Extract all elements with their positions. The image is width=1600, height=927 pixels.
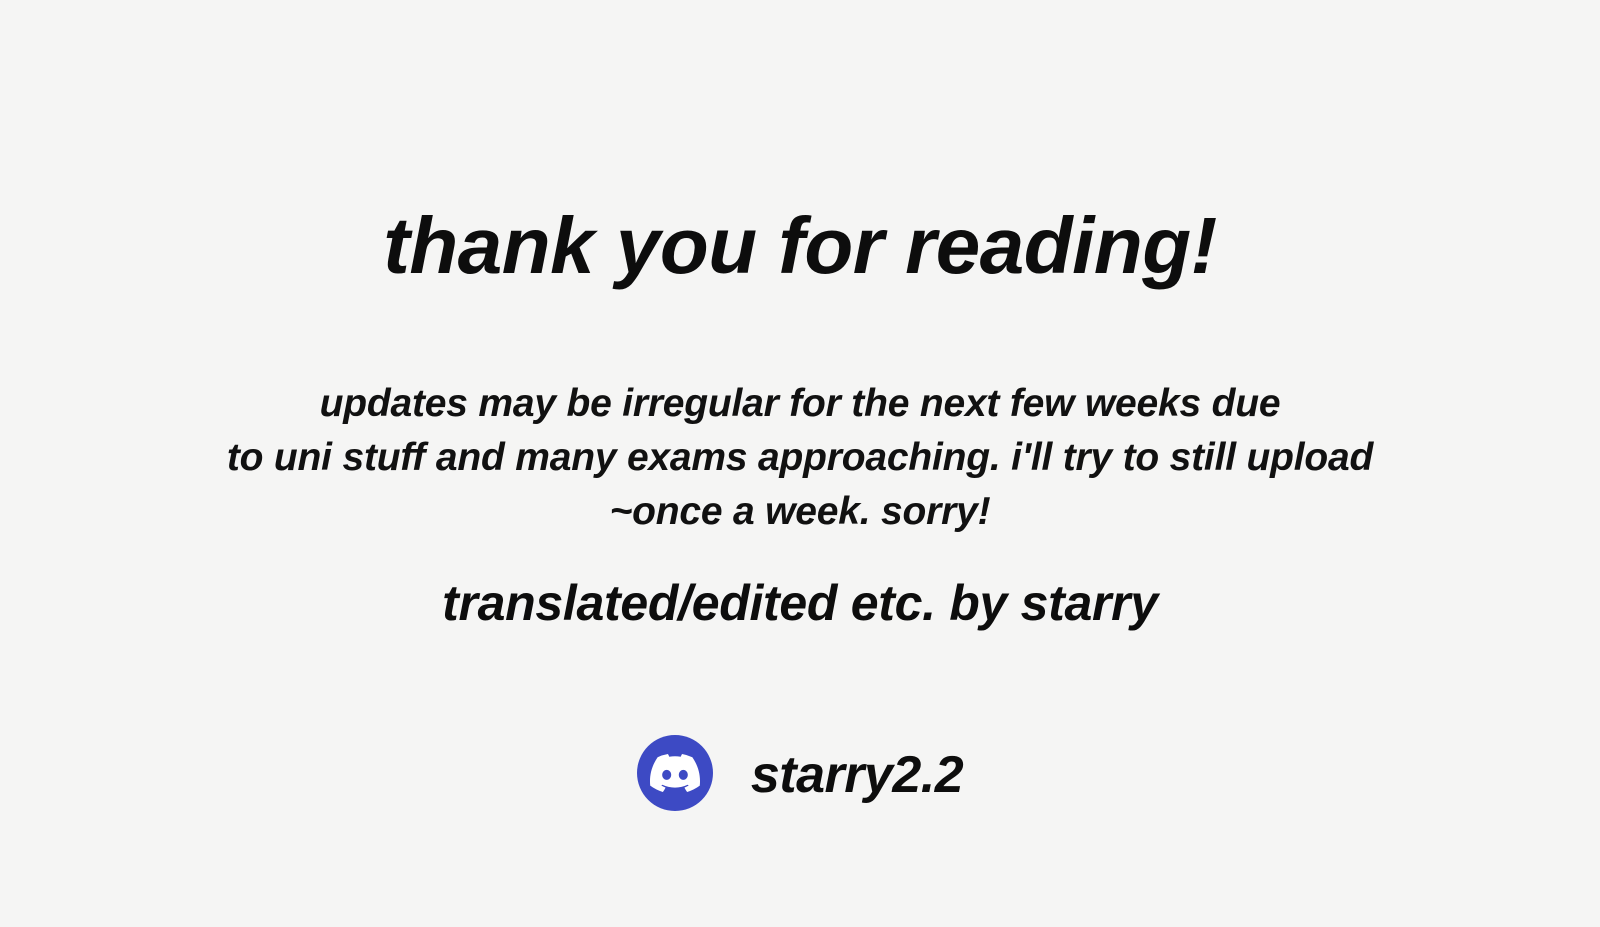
discord-handle-name: starry2.2 [751, 749, 963, 801]
page-title: thank you for reading! [0, 206, 1600, 286]
notice-line-1: updates may be irregular for the next fe… [0, 377, 1600, 431]
update-notice: updates may be irregular for the next fe… [0, 377, 1600, 539]
notice-line-2: to uni stuff and many exams approaching.… [0, 431, 1600, 485]
thank-you-slide: thank you for reading! updates may be ir… [0, 0, 1600, 927]
notice-line-3: ~once a week. sorry! [0, 485, 1600, 539]
credit-line: translated/edited etc. by starry [0, 578, 1600, 628]
discord-icon [637, 735, 713, 811]
discord-handle-row: starry2.2 [0, 735, 1600, 811]
